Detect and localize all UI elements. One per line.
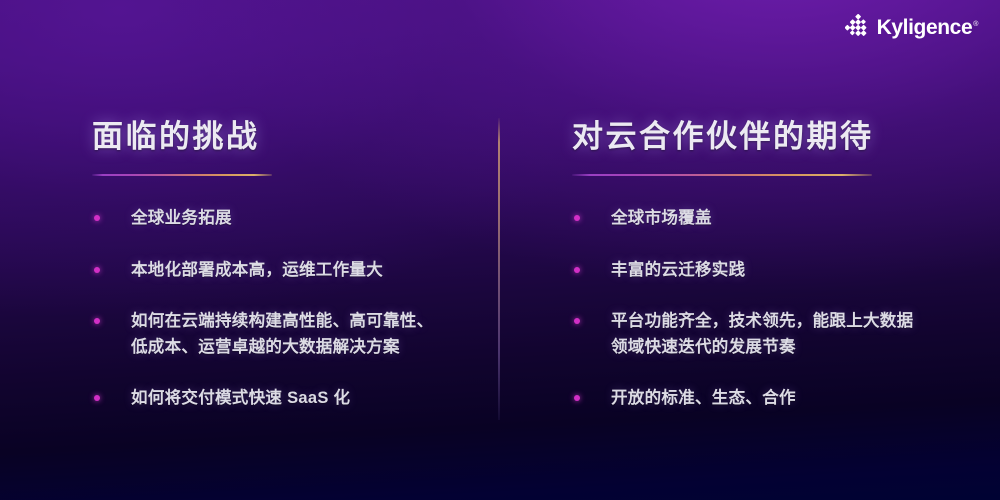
bullet-dot-icon [574, 318, 580, 324]
list-item: 如何在云端持续构建高性能、高可靠性、低成本、运营卓越的大数据解决方案 [92, 309, 472, 360]
list-item: 全球业务拓展 [92, 206, 472, 232]
list-item-line: 本地化部署成本高，运维工作量大 [131, 258, 472, 284]
bullet-dot-icon [94, 318, 100, 324]
list-item-text: 全球市场覆盖 [611, 206, 957, 232]
bullet-dot-icon [574, 395, 580, 401]
list-item-text: 如何将交付模式快速 SaaS 化 [131, 386, 472, 412]
column-expectations: 对云合作伙伴的期待 全球市场覆盖 丰富的云迁移实践 平台功能齐全，技术领先，能跟… [572, 118, 957, 428]
list-item: 平台功能齐全，技术领先，能跟上大数据领域快速迭代的发展节奏 [572, 309, 957, 360]
list-item-line: 丰富的云迁移实践 [611, 258, 957, 284]
column-expectations-bullet-list: 全球市场覆盖 丰富的云迁移实践 平台功能齐全，技术领先，能跟上大数据领域快速迭代… [572, 206, 957, 412]
column-expectations-title-rule [572, 174, 872, 176]
column-challenges-title-rule [92, 174, 272, 176]
list-item: 如何将交付模式快速 SaaS 化 [92, 386, 472, 412]
list-item-text: 如何在云端持续构建高性能、高可靠性、低成本、运营卓越的大数据解决方案 [131, 309, 472, 360]
slide-canvas: Kyligence® 面临的挑战 全球业务拓展 本地化部署成本高，运维工作量大 … [0, 0, 1000, 500]
list-item-text: 本地化部署成本高，运维工作量大 [131, 258, 472, 284]
list-item-line: 低成本、运营卓越的大数据解决方案 [131, 335, 472, 361]
list-item-line: 如何将交付模式快速 SaaS 化 [131, 386, 472, 412]
list-item: 全球市场覆盖 [572, 206, 957, 232]
bullet-dot-icon [94, 267, 100, 273]
column-expectations-title: 对云合作伙伴的期待 [572, 118, 957, 155]
bullet-dot-icon [94, 215, 100, 221]
list-item-line: 如何在云端持续构建高性能、高可靠性、 [131, 309, 472, 335]
column-challenges-bullet-list: 全球业务拓展 本地化部署成本高，运维工作量大 如何在云端持续构建高性能、高可靠性… [92, 206, 472, 412]
list-item-text: 开放的标准、生态、合作 [611, 386, 957, 412]
bullet-dot-icon [574, 215, 580, 221]
list-item: 开放的标准、生态、合作 [572, 386, 957, 412]
column-challenges-title: 面临的挑战 [92, 118, 472, 155]
list-item-text: 平台功能齐全，技术领先，能跟上大数据领域快速迭代的发展节奏 [611, 309, 957, 360]
list-item-line: 全球业务拓展 [131, 206, 472, 232]
list-item-text: 丰富的云迁移实践 [611, 258, 957, 284]
content-columns: 面临的挑战 全球业务拓展 本地化部署成本高，运维工作量大 如何在云端持续构建高性… [0, 0, 1000, 500]
list-item-line: 领域快速迭代的发展节奏 [611, 335, 957, 361]
list-item-line: 平台功能齐全，技术领先，能跟上大数据 [611, 309, 957, 335]
list-item: 本地化部署成本高，运维工作量大 [92, 258, 472, 284]
list-item-line: 全球市场覆盖 [611, 206, 957, 232]
list-item: 丰富的云迁移实践 [572, 258, 957, 284]
list-item-line: 开放的标准、生态、合作 [611, 386, 957, 412]
bullet-dot-icon [94, 395, 100, 401]
column-challenges: 面临的挑战 全球业务拓展 本地化部署成本高，运维工作量大 如何在云端持续构建高性… [92, 118, 472, 428]
list-item-text: 全球业务拓展 [131, 206, 472, 232]
bullet-dot-icon [574, 267, 580, 273]
